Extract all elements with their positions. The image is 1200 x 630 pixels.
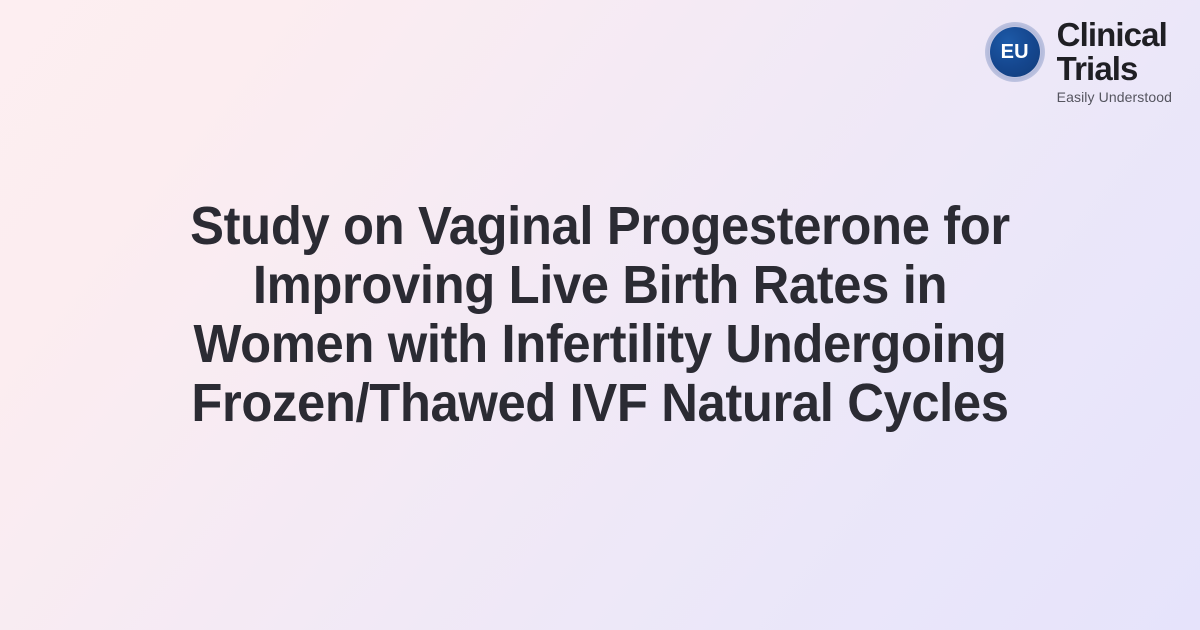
title-line: Improving Live Birth Rates in — [102, 256, 1098, 315]
headline-container: Study on Vaginal Progesterone for Improv… — [0, 0, 1200, 630]
share-card: EU Clinical Trials Easily Understood Stu… — [0, 0, 1200, 630]
title-line: Frozen/Thawed IVF Natural Cycles — [102, 374, 1098, 433]
page-title: Study on Vaginal Progesterone for Improv… — [102, 197, 1098, 432]
title-line: Women with Infertility Undergoing — [102, 315, 1098, 374]
title-line: Study on Vaginal Progesterone for — [102, 197, 1098, 256]
